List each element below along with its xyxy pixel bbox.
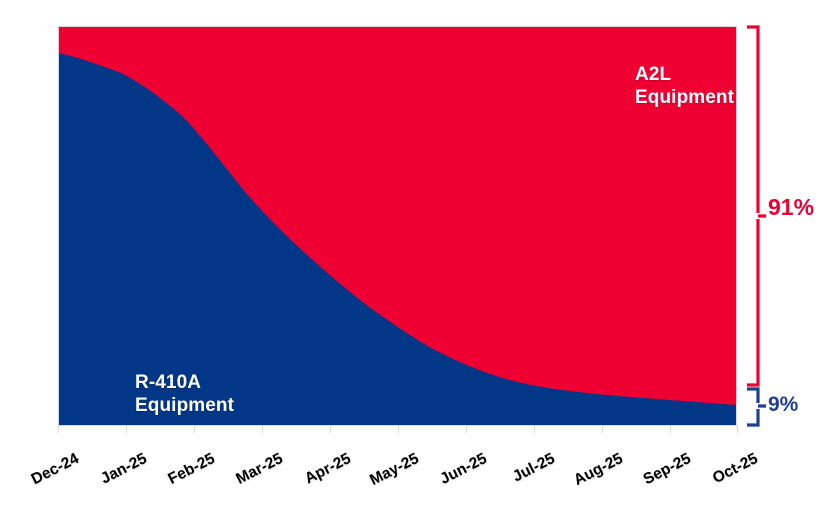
r410a-equipment-area-label: R-410A Equipment [135,371,234,417]
a2l-bracket [747,27,766,385]
bracket-annotations-svg [737,20,773,435]
x-axis-tick-labels: Dec-24 Jan-25 Feb-25 Mar-25 Apr-25 May-2… [0,425,822,501]
a2l-equipment-area-label: A2L Equipment [635,63,734,109]
a2l-percent-callout: 91% [768,194,814,221]
r410a-percent-callout: 9% [768,393,798,417]
plot-area: A2L Equipment R-410A Equipment [58,26,737,425]
r410a-bracket [747,389,766,425]
stacked-area-chart: A2L Equipment R-410A Equipment Dec-24 Ja… [0,0,822,501]
